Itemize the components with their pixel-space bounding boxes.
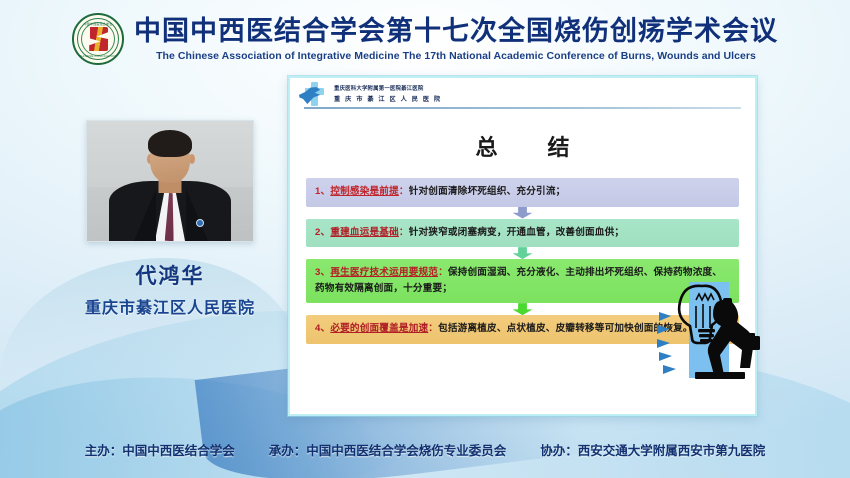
step-3-keyword: 再生医疗技术运用要规范 — [330, 267, 438, 278]
summary-steps-list: 1、控制感染是前提：针对创面清除坏死组织、充分引流； 2、重建血运是基础：针对狭… — [290, 178, 755, 344]
summary-step-1: 1、控制感染是前提：针对创面清除坏死组织、充分引流； — [306, 178, 739, 207]
step-4-number: 4、 — [315, 323, 330, 334]
footer-cohost: 协办：西安交通大学附属西安市第九医院 — [540, 440, 765, 459]
summary-step-3: 3、再生医疗技术运用要规范：保持创面湿润、充分液化、主动排出坏死组织、保持药物浓… — [306, 259, 739, 303]
slide-header-divider — [304, 107, 741, 109]
step-4-colon: ： — [428, 323, 438, 334]
conference-title-block: 中国中西医结合学会第十七次全国烧伤创疡学术会议 The Chinese Asso… — [134, 16, 778, 61]
sponsor-footer-bar: 主办：中国中西医结合学会 承办：中国中西医结合学会烧伤专业委员会 协办：西安交通… — [0, 420, 850, 478]
association-logo-icon: 中国中西医结合学会 CHINESE ASSOCIATION — [72, 13, 124, 65]
slide-hospital-name: 重庆医科大学附属第一医院綦江医院 重 庆 市 綦 江 区 人 民 医 院 — [334, 82, 442, 103]
step-3-number: 3、 — [315, 267, 330, 278]
presenter-lapel-badge — [196, 219, 204, 227]
hospital-name-line1: 重庆医科大学附属第一医院綦江医院 — [334, 84, 442, 92]
hospital-name-line2: 重 庆 市 綦 江 区 人 民 医 院 — [334, 94, 442, 103]
logo-ring-text-bottom: CHINESE ASSOCIATION — [72, 54, 124, 58]
step-2-number: 2、 — [315, 227, 330, 238]
step-4-body: 包括游离植皮、点状植皮、皮瓣转移等可加快创面的恢复。 — [438, 323, 693, 334]
step-1-number: 1、 — [315, 186, 330, 197]
conference-title-english: The Chinese Association of Integrative M… — [156, 50, 756, 62]
presenter-hair — [148, 130, 192, 157]
step-2-body: 针对狭窄或闭塞病变，开通血管，改善创面血供； — [409, 227, 624, 238]
flow-arrow-2-icon — [513, 247, 533, 259]
step-1-body: 针对创面清除坏死组织、充分引流； — [409, 186, 566, 197]
slide-header: 重庆医科大学附属第一医院綦江医院 重 庆 市 綦 江 区 人 民 医 院 — [290, 78, 755, 108]
footer-organizer: 主办：中国中西医结合学会 — [85, 440, 235, 459]
step-1-keyword: 控制感染是前提 — [330, 186, 399, 197]
broadcast-stage: 中国中西医结合学会 CHINESE ASSOCIATION 中国中西医结合学会第… — [0, 0, 850, 478]
conference-header: 中国中西医结合学会 CHINESE ASSOCIATION 中国中西医结合学会第… — [0, 0, 850, 78]
step-2-keyword: 重建血运是基础 — [330, 227, 399, 238]
footer-host: 承办：中国中西医结合学会烧伤专业委员会 — [269, 440, 507, 459]
presenter-name: 代鸿华 — [136, 260, 205, 290]
step-1-colon: ： — [399, 186, 409, 197]
summary-step-2: 2、重建血运是基础：针对狭窄或闭塞病变，开通血管，改善创面血供； — [306, 219, 739, 248]
flow-arrow-3-icon — [513, 303, 533, 315]
presentation-slide[interactable]: 重庆医科大学附属第一医院綦江医院 重 庆 市 綦 江 区 人 民 医 院 总 结… — [288, 76, 757, 416]
logo-ring-text-top: 中国中西医结合学会 — [72, 22, 124, 26]
dove-cross-logo-icon — [298, 82, 328, 108]
step-3-colon: ： — [438, 267, 448, 278]
presenter-organization: 重庆市綦江区人民医院 — [85, 294, 255, 318]
slide-title: 总 结 — [290, 130, 755, 162]
step-2-colon: ： — [399, 227, 409, 238]
flow-arrow-1-icon — [513, 207, 533, 219]
step-4-keyword: 必要的创面覆盖是加速 — [330, 323, 428, 334]
presenter-video-feed[interactable] — [86, 120, 254, 242]
summary-step-4: 4、必要的创面覆盖是加速：包括游离植皮、点状植皮、皮瓣转移等可加快创面的恢复。 — [306, 315, 739, 344]
conference-title-chinese: 中国中西医结合学会第十七次全国烧伤创疡学术会议 — [134, 16, 778, 46]
presenter-panel: 代鸿华 重庆市綦江区人民医院 — [60, 120, 280, 318]
